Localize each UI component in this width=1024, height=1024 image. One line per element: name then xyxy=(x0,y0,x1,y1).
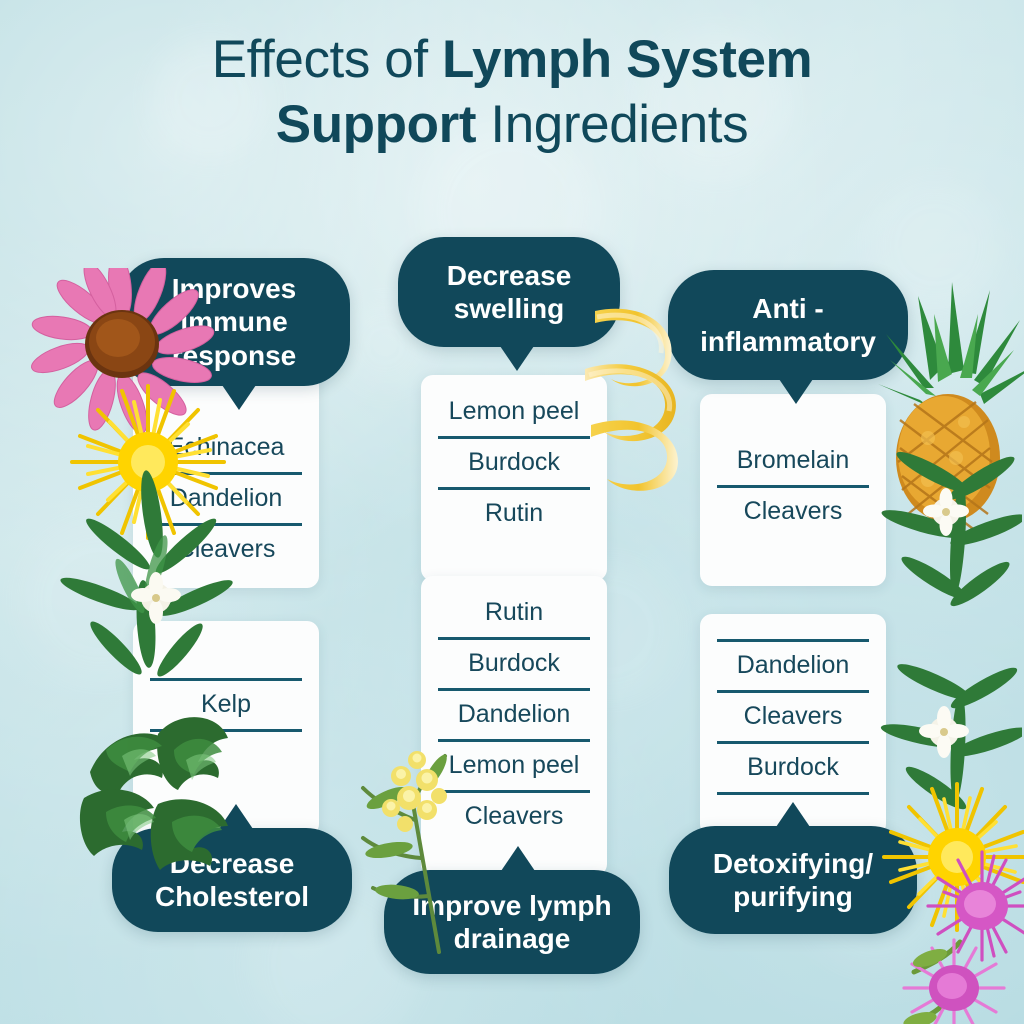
pill-tail-icon xyxy=(501,846,535,871)
card-label-pill[interactable]: Detoxifying/ purifying xyxy=(669,826,917,934)
pill-tail-icon xyxy=(776,802,810,827)
card-label-text: Improve lymph drainage xyxy=(412,889,611,955)
card-label-pill[interactable]: Improves immune response xyxy=(118,258,350,386)
infographic-canvas: Effects of Lymph System Support Ingredie… xyxy=(0,0,1024,1024)
ingredient-item: Dandelion xyxy=(717,639,869,690)
card-label-text: Decrease Cholesterol xyxy=(155,847,309,913)
ingredient-item: Cleavers xyxy=(717,690,869,741)
card-label-pill[interactable]: Decrease swelling xyxy=(398,237,620,347)
pill-tail-icon xyxy=(500,346,534,371)
pill-tail-icon xyxy=(222,385,256,410)
card-label-text: Detoxifying/ purifying xyxy=(713,847,873,913)
pill-tail-icon xyxy=(219,804,253,829)
card-label-text: Improves immune response xyxy=(172,272,297,371)
card-label-pill[interactable]: Anti - inflammatory xyxy=(668,270,908,380)
card-label-text: Decrease swelling xyxy=(447,259,572,325)
card-label-pill[interactable]: Decrease Cholesterol xyxy=(112,828,352,932)
pill-tail-icon xyxy=(779,379,813,404)
ingredient-list: Dandelion Cleavers Burdock xyxy=(700,639,886,795)
cleavers-leaves-art xyxy=(872,636,1022,836)
card-label-text: Anti - inflammatory xyxy=(700,292,876,358)
ingredient-item: Burdock xyxy=(717,741,869,795)
card-label-pill[interactable]: Improve lymph drainage xyxy=(384,870,640,974)
